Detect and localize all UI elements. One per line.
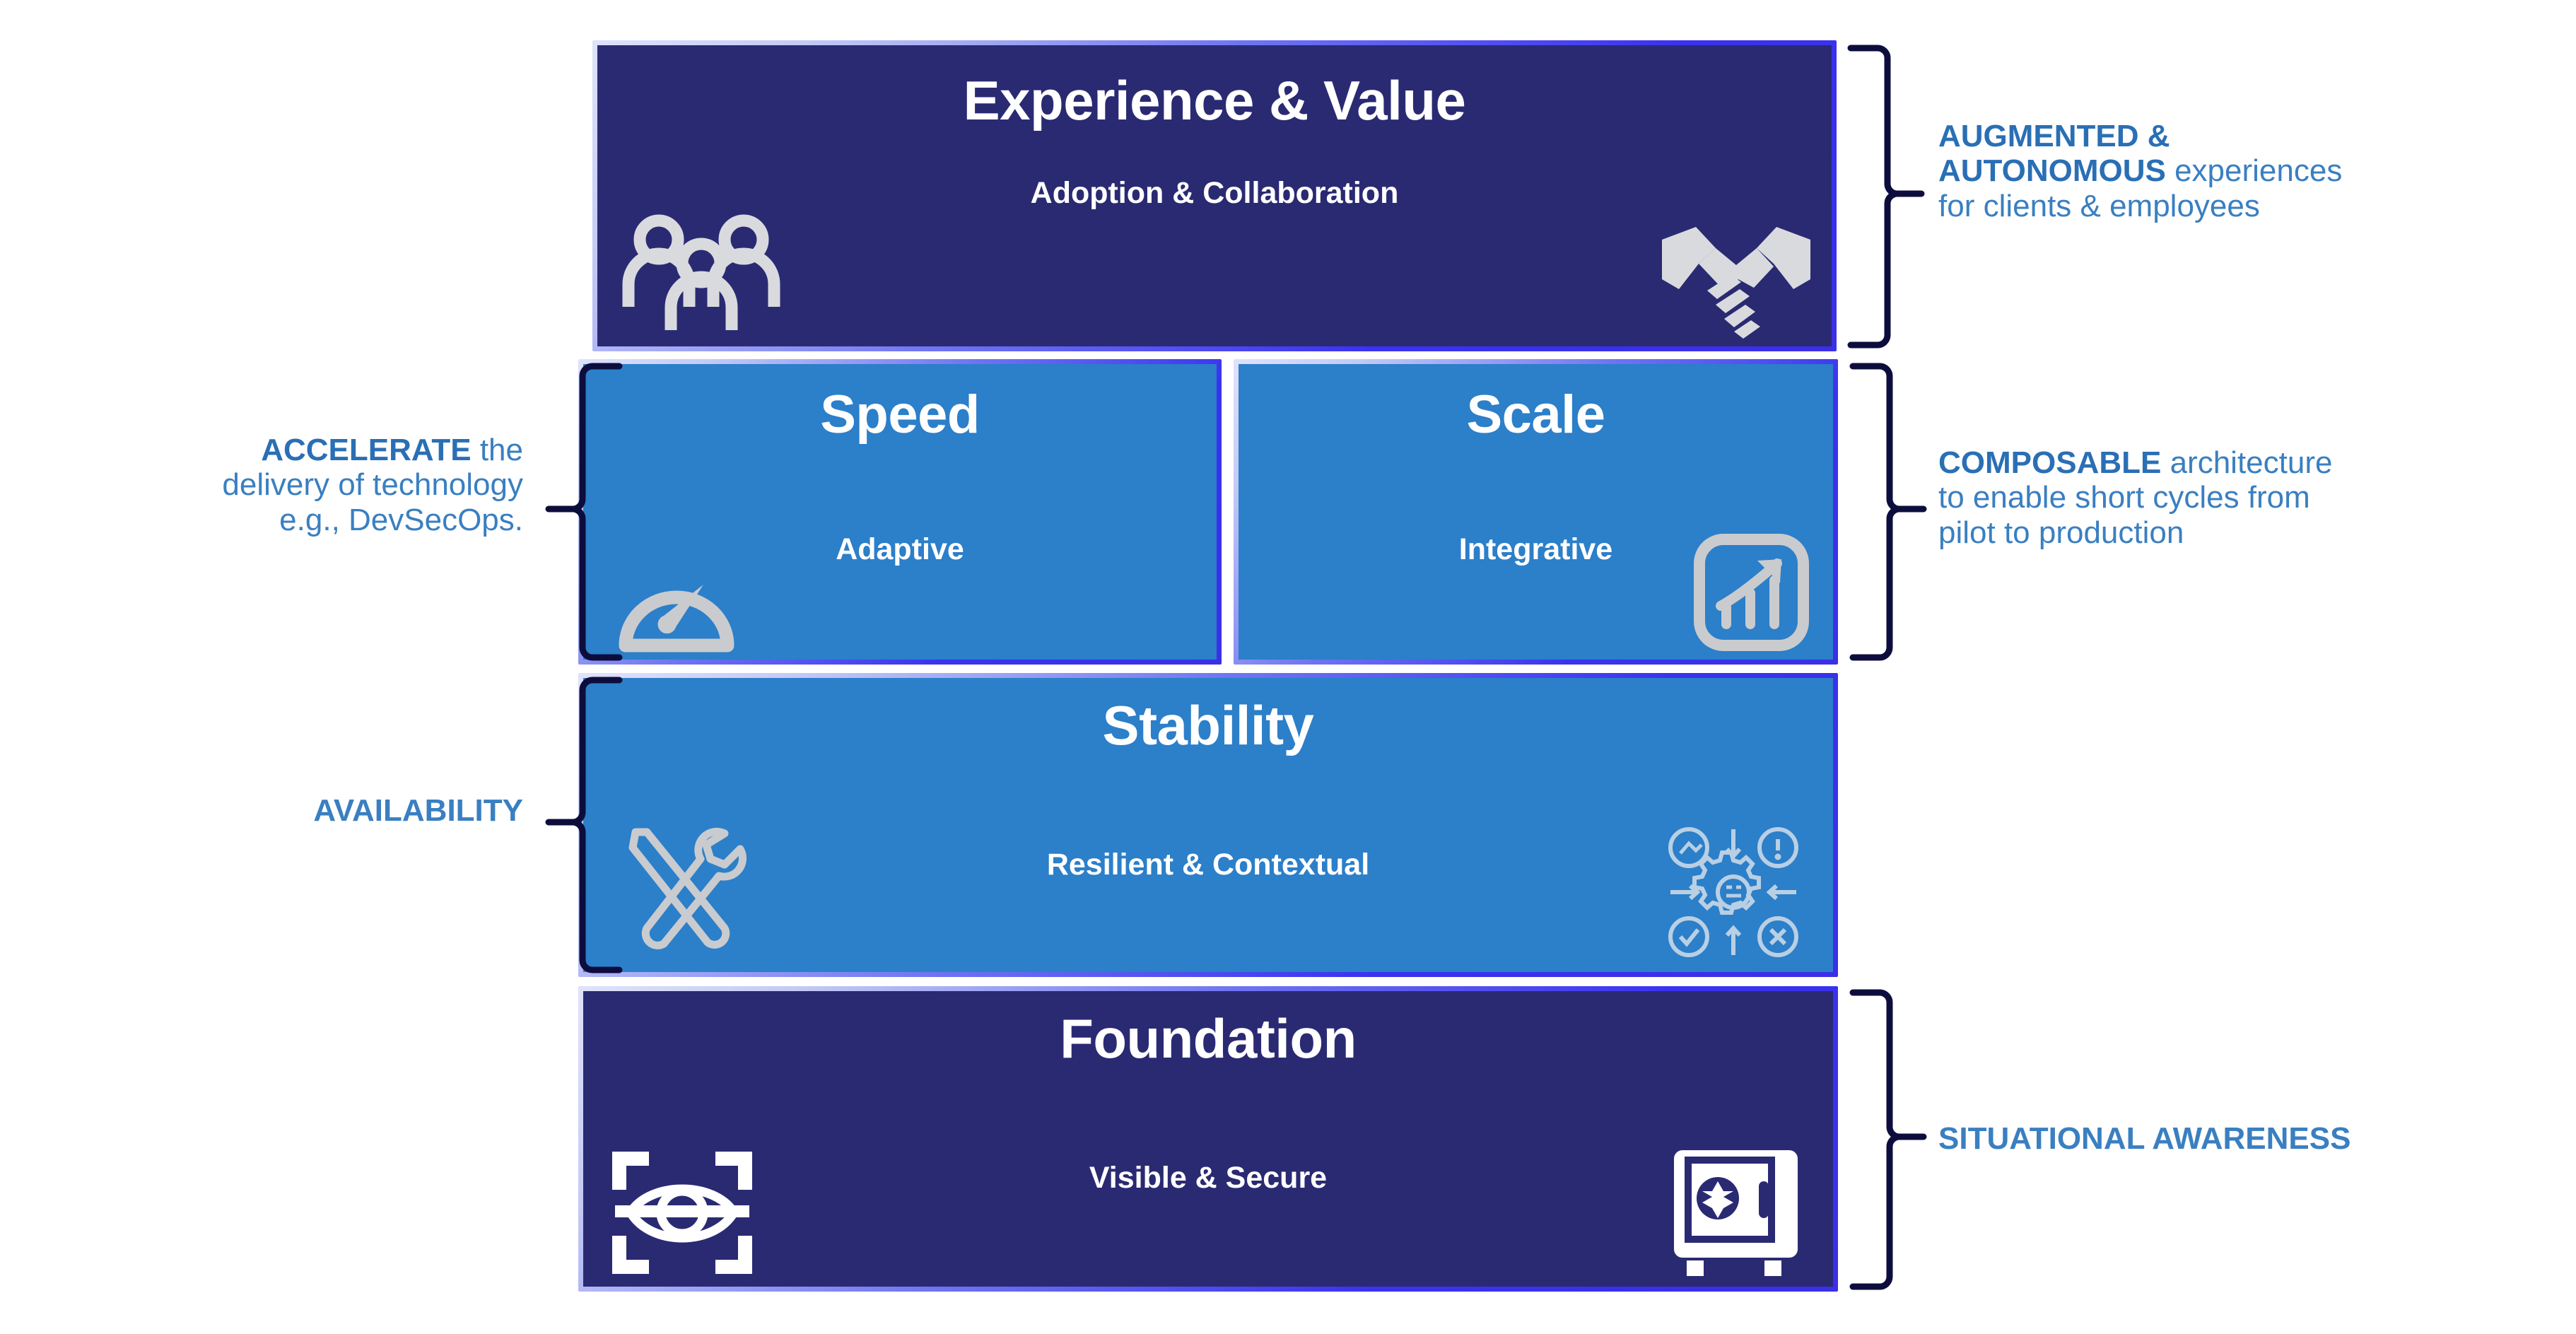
bracket-experience — [1846, 44, 1926, 349]
annotation-line: e.g., DevSecOps. — [42, 503, 523, 537]
layer-subtitle: Resilient & Contextual — [583, 848, 1833, 882]
annotation-line: for clients & employees — [1938, 189, 2553, 223]
annotation-accelerate: ACCELERATE the delivery of technology e.… — [42, 433, 523, 537]
annotation-rest: experiences — [2166, 153, 2342, 188]
annotation-emphasis: AUTONOMOUS — [1938, 153, 2166, 188]
bracket-composable — [1849, 362, 1928, 662]
layer-body: Scale Integrative — [1239, 364, 1833, 660]
bracket-accelerate — [544, 362, 623, 662]
annotation-rest: the — [472, 433, 523, 467]
layer-subtitle: Adaptive — [583, 532, 1217, 567]
annotation-line: delivery of technology — [42, 467, 523, 502]
annotation-emphasis: AUGMENTED & — [1938, 119, 2170, 153]
bracket-situational — [1849, 988, 1928, 1291]
layer-body: Experience & Value Adoption & Collaborat… — [597, 45, 1832, 346]
annotation-line: pilot to production — [1938, 515, 2575, 550]
annotation-availability: AVAILABILITY — [42, 793, 523, 828]
annotation-composable: COMPOSABLE architecture to enable short … — [1938, 445, 2575, 550]
layer-scale[interactable]: Scale Integrative — [1234, 359, 1838, 665]
layer-body: Stability Resilient & Contextual — [583, 678, 1833, 972]
people-group-icon — [620, 208, 783, 332]
layer-subtitle: Visible & Secure — [583, 1161, 1833, 1195]
tools-icon — [619, 822, 753, 956]
layer-subtitle: Integrative — [1239, 532, 1833, 567]
layer-subtitle: Adoption & Collaboration — [597, 176, 1832, 211]
layer-title: Speed — [583, 384, 1217, 445]
layer-stability[interactable]: Stability Resilient & Contextual — [578, 673, 1838, 977]
annotation-augmented-autonomous: AUGMENTED & AUTONOMOUS experiences for c… — [1938, 119, 2553, 223]
annotation-line: COMPOSABLE architecture — [1938, 445, 2575, 480]
annotation-line: AUTONOMOUS experiences — [1938, 153, 2553, 188]
layer-title: Stability — [583, 694, 1833, 758]
diagram-canvas: Experience & Value Adoption & Collaborat… — [0, 0, 2576, 1334]
annotation-line: to enable short cycles from — [1938, 480, 2575, 515]
layer-title: Experience & Value — [597, 69, 1832, 133]
annotation-situational-awareness: SITUATIONAL AWARENESS — [1938, 1121, 2575, 1156]
layer-experience-value[interactable]: Experience & Value Adoption & Collaborat… — [592, 40, 1837, 351]
bracket-availability — [544, 676, 623, 974]
layer-title: Scale — [1239, 384, 1833, 445]
layer-foundation[interactable]: Foundation Visible & Secure — [578, 986, 1838, 1292]
layer-body: Speed Adaptive — [583, 364, 1217, 660]
annotation-line: AVAILABILITY — [42, 793, 523, 828]
handshake-icon — [1655, 211, 1817, 339]
gear-orchestration-icon — [1666, 825, 1801, 959]
layer-title: Foundation — [583, 1007, 1833, 1071]
annotation-emphasis: COMPOSABLE — [1938, 445, 2161, 480]
annotation-line: ACCELERATE the — [42, 433, 523, 467]
annotation-line: SITUATIONAL AWARENESS — [1938, 1121, 2575, 1156]
annotation-emphasis: ACCELERATE — [261, 433, 471, 467]
layer-speed[interactable]: Speed Adaptive — [578, 359, 1222, 665]
layer-body: Foundation Visible & Secure — [583, 991, 1833, 1287]
annotation-rest: architecture — [2161, 445, 2332, 480]
annotation-line: AUGMENTED & — [1938, 119, 2553, 153]
